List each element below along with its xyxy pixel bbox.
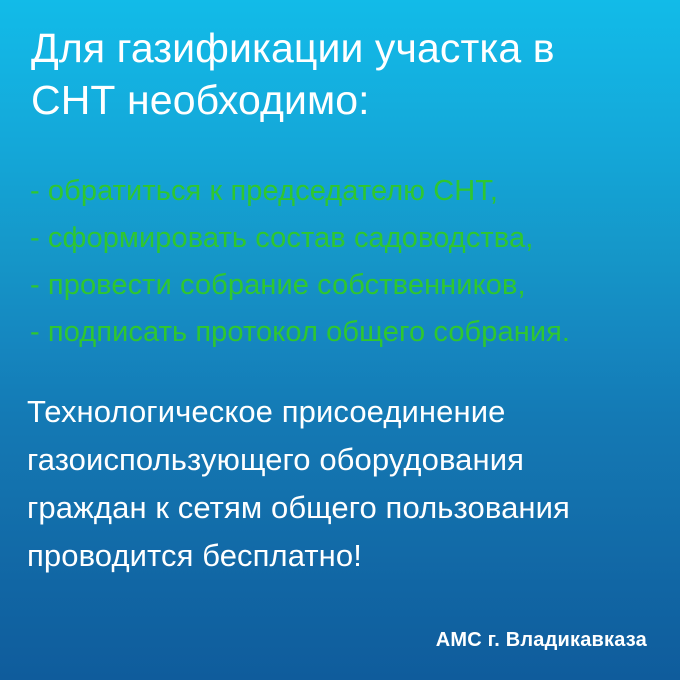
list-item: - обратиться к председателю СНТ,: [30, 168, 675, 215]
requirements-list: - обратиться к председателю СНТ, - сформ…: [30, 168, 675, 356]
footer-signature: АМС г. Владикавказа: [436, 628, 647, 652]
poster-canvas: Для газификации участка в СНТ необходимо…: [0, 0, 680, 680]
page-title: Для газификации участка в СНТ необходимо…: [31, 22, 631, 126]
list-item: - подписать протокол общего собрания.: [30, 309, 675, 356]
list-item: - сформировать состав садоводства,: [30, 215, 675, 262]
statement-paragraph: Технологическое присоединение газоисполь…: [27, 388, 667, 580]
list-item: - провести собрание собственников,: [30, 262, 675, 309]
